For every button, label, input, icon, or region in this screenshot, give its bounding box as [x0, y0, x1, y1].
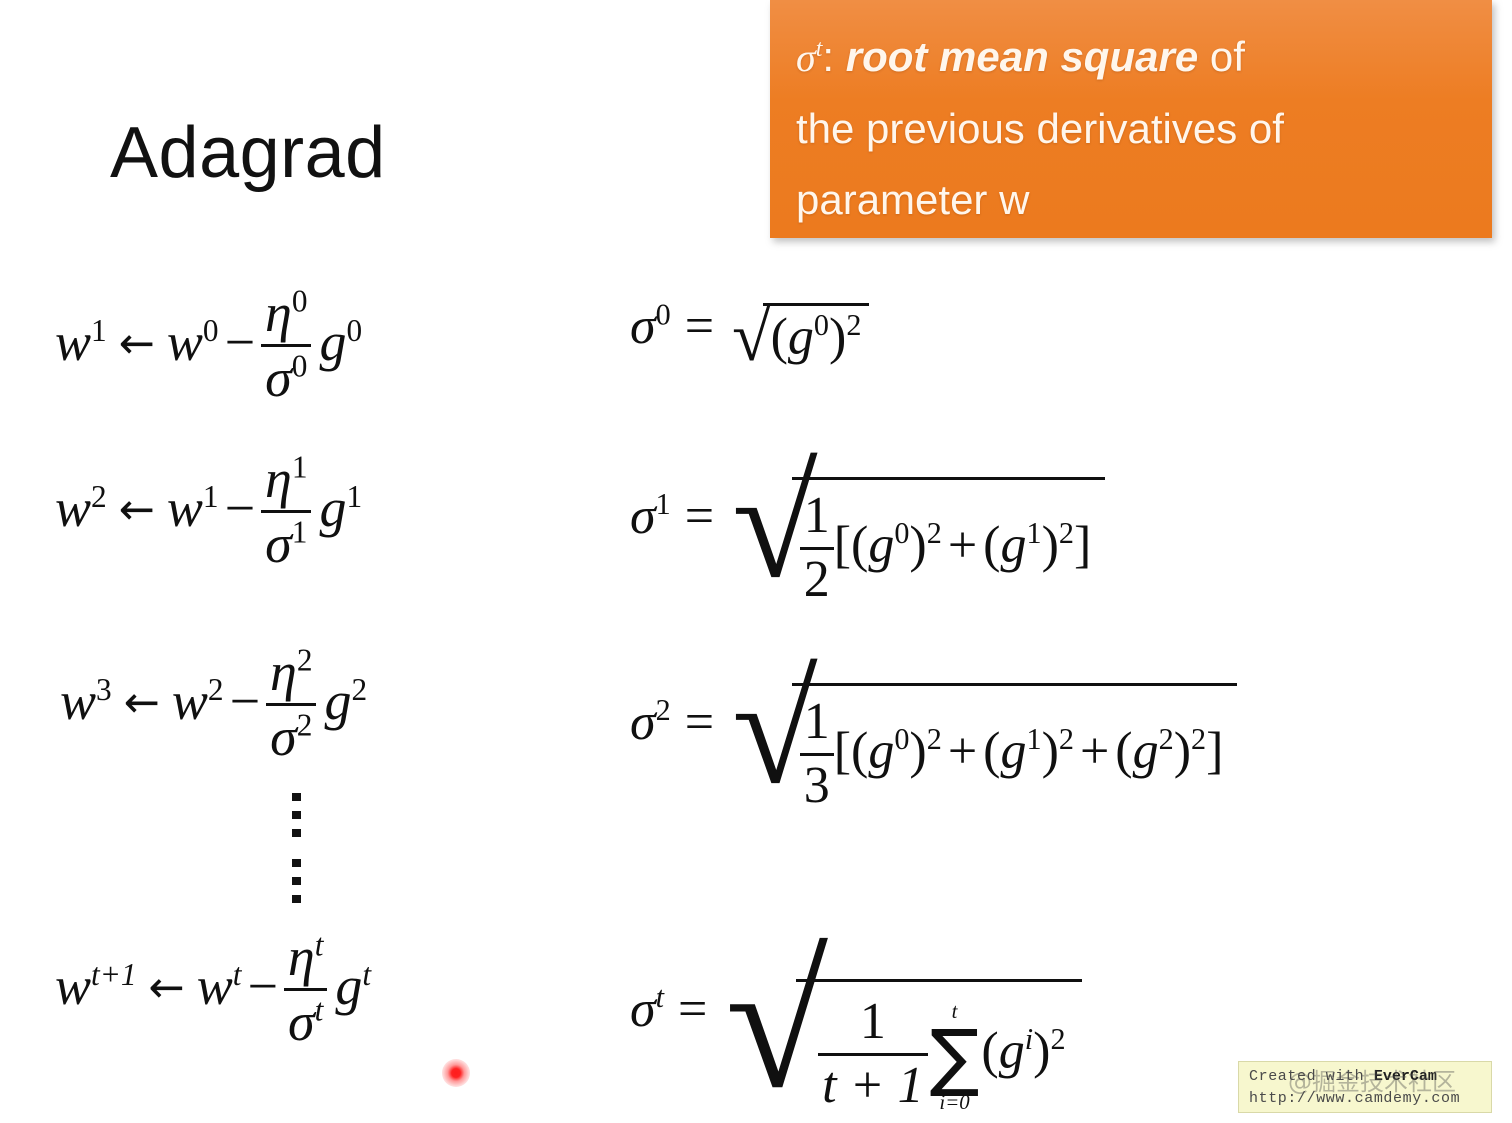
rhs-w-t: w	[197, 956, 233, 1016]
rhs-w-3-sup: 2	[208, 672, 224, 707]
summation-icon: t∑i=0	[928, 1001, 982, 1115]
plus-operator-2b: +	[1074, 723, 1115, 780]
open-paren-0: (	[771, 309, 788, 366]
frac-num-2: 1	[800, 694, 834, 750]
vertical-ellipsis-icon	[292, 793, 304, 893]
sigma-2-lhs-sup: 2	[656, 693, 671, 727]
g-0-power: 2	[846, 308, 861, 342]
frac-den-t: t + 1	[818, 1058, 928, 1114]
fraction-bar-t	[284, 988, 328, 991]
assign-arrow-icon: ←	[107, 485, 167, 535]
fraction-bar-2	[261, 510, 311, 513]
fraction-bar	[800, 547, 834, 550]
eta-t-sup: t	[315, 928, 324, 963]
eta-over-sigma-frac-1: η0σ0	[261, 284, 311, 408]
eta-3-sup: 2	[297, 643, 313, 678]
equals-sign-t: =	[664, 981, 721, 1038]
sigma-symbol: σ	[796, 35, 816, 80]
frac-num-1: 1	[800, 488, 834, 544]
fraction-bar-1	[261, 344, 311, 347]
g-t-power: 2	[1050, 1022, 1065, 1056]
sigma-definition-row-t: σt=√1t + 1t∑i=0(gi)2	[630, 912, 1082, 1116]
rhs-w-1: w	[167, 312, 203, 372]
callout-line-1: σt: root mean square of	[796, 14, 1466, 93]
close-bracket-2: ]	[1206, 723, 1223, 780]
frac-numerator-2: η1	[261, 450, 311, 508]
sigma-3-sup: 2	[297, 708, 313, 743]
slide-canvas: Adagrad σt: root mean square of the prev…	[0, 0, 1512, 1123]
eta-over-sigma-frac-3: η2σ2	[266, 643, 316, 767]
eta-1: η	[265, 283, 292, 343]
close-paren-2b: )	[1042, 723, 1059, 780]
badge-url: http://www.camdemy.com	[1249, 1088, 1483, 1110]
close-paren-2c: )	[1174, 723, 1191, 780]
sigma-t-lhs-sup: t	[656, 980, 664, 1014]
frac-denominator-t: σt	[284, 993, 328, 1051]
laser-pointer-dot	[442, 1059, 470, 1087]
g-t: g	[999, 1023, 1025, 1080]
gradient-g-t-sup: t	[362, 957, 371, 992]
eta-t: η	[288, 927, 315, 987]
g-1b-power: 2	[1059, 516, 1074, 550]
g-t-sup: i	[1025, 1022, 1033, 1056]
open-paren-1a: (	[851, 517, 868, 574]
g-2b: g	[1000, 723, 1026, 780]
gradient-g-1: g	[311, 312, 346, 372]
square-root-icon-1: √12[(g0)2+(g1)2]	[728, 432, 1105, 610]
lhs-w-t: w	[55, 956, 91, 1016]
gradient-g-t: g	[327, 956, 362, 1016]
eta-over-sigma-frac-t: ηtσt	[284, 928, 328, 1052]
badge-created-with: Created with	[1249, 1068, 1374, 1085]
open-paren-2a: (	[851, 723, 868, 780]
radical-sign-glyph: √	[725, 930, 828, 1117]
frac-numerator-t: ηt	[284, 928, 328, 986]
eta-3: η	[270, 642, 297, 702]
fraction-bar	[818, 1053, 928, 1056]
badge-brand-name: EverCam	[1374, 1068, 1437, 1085]
sigma-1-lhs-sup: 1	[656, 487, 671, 521]
fraction-bar	[800, 753, 834, 756]
minus-operator-2: −	[219, 478, 261, 538]
frac-denominator-3: σ2	[266, 708, 316, 766]
ellipsis-dot	[292, 793, 301, 801]
rhs-w-3: w	[172, 671, 208, 731]
eta-over-sigma-frac-2: η1σ1	[261, 450, 311, 574]
callout-line1-tail: of	[1198, 33, 1245, 80]
gradient-g-3-sup: 2	[351, 672, 367, 707]
sigma-1-lhs: σ	[630, 488, 656, 545]
eta-1-sup: 0	[292, 284, 308, 319]
lhs-w-2-sup: 2	[91, 479, 107, 514]
g-1a-sup: 0	[894, 516, 909, 550]
g-0-sup: 0	[814, 308, 829, 342]
open-bracket-2: [	[834, 723, 851, 780]
sigma-definition-row-1: σ1=√12[(g0)2+(g1)2]	[630, 432, 1105, 610]
g-2b-power: 2	[1059, 722, 1074, 756]
equals-sign-1: =	[671, 488, 728, 545]
gradient-g-2-sup: 1	[346, 479, 362, 514]
lhs-w-1-sup: 1	[91, 313, 107, 348]
sigma-2-sup: 1	[292, 515, 308, 550]
open-paren-1b: (	[983, 517, 1000, 574]
radical-sign-glyph: √	[732, 302, 771, 372]
open-paren-2b: (	[983, 723, 1000, 780]
sigma-t-lhs: σ	[630, 981, 656, 1038]
g-1b-sup: 1	[1026, 516, 1041, 550]
callout-line-3: parameter w	[796, 164, 1466, 235]
eta-2: η	[265, 449, 292, 509]
sigma-1: σ	[265, 348, 292, 408]
sigma-2: σ	[265, 514, 292, 574]
equals-sign-0: =	[671, 298, 728, 355]
square-root-icon-0: √(g0)2	[728, 296, 869, 366]
lhs-w-t-sup: t+1	[91, 957, 137, 992]
close-bracket-1: ]	[1074, 517, 1091, 574]
close-paren-t: )	[1033, 1023, 1050, 1080]
g-2a: g	[868, 723, 894, 780]
lhs-w-3: w	[60, 671, 96, 731]
close-paren-0: )	[829, 309, 846, 366]
update-rule-row-t: wt+1←wt−ηtσtgt	[55, 930, 371, 1054]
ellipsis-dot	[292, 877, 301, 885]
g-2b-sup: 1	[1026, 722, 1041, 756]
callout-emphasis: root mean square	[846, 33, 1198, 80]
ellipsis-dot	[292, 895, 301, 903]
ellipsis-dot	[292, 811, 301, 819]
sigma-0-sup: 0	[656, 297, 671, 331]
g-1a-power: 2	[927, 516, 942, 550]
frac-denominator-2: σ1	[261, 515, 311, 573]
update-rule-row-1: w1←w0−η0σ0g0	[55, 286, 362, 410]
gradient-g-1-sup: 0	[346, 313, 362, 348]
gradient-g-2: g	[311, 478, 346, 538]
g-2c-sup: 2	[1159, 722, 1174, 756]
equals-sign-2: =	[671, 694, 728, 751]
radicand-t: 1t + 1t∑i=0(gi)2	[796, 979, 1081, 1115]
lhs-w-2: w	[55, 478, 91, 538]
minus-operator-3: −	[224, 671, 266, 731]
square-root-icon-t: √1t + 1t∑i=0(gi)2	[721, 912, 1081, 1116]
lhs-w-3-sup: 3	[96, 672, 112, 707]
sigma-1-sup: 0	[292, 349, 308, 384]
one-half-fraction: 12	[800, 488, 834, 607]
g-2c-power: 2	[1191, 722, 1206, 756]
sigma-0: σ	[630, 298, 656, 355]
assign-arrow-icon: ←	[107, 319, 167, 369]
one-third-fraction: 13	[800, 694, 834, 813]
frac-num-t: 1	[818, 994, 928, 1050]
sigma-definition-row-0: σ0=√(g0)2	[630, 296, 869, 366]
callout-box: σt: root mean square of the previous der…	[770, 0, 1492, 238]
open-paren-2c: (	[1115, 723, 1132, 780]
g-0: g	[788, 309, 814, 366]
g-2c: g	[1133, 723, 1159, 780]
radicand-1: 12[(g0)2+(g1)2]	[792, 477, 1106, 609]
minus-operator-1: −	[219, 312, 261, 372]
lhs-w-1: w	[55, 312, 91, 372]
eta-2-sup: 1	[292, 450, 308, 485]
open-bracket-1: [	[834, 517, 851, 574]
sigma-t-sup: t	[315, 993, 324, 1028]
assign-arrow-icon: ←	[112, 678, 172, 728]
gradient-g-3: g	[316, 671, 351, 731]
fraction-bar-3	[266, 703, 316, 706]
page-title: Adagrad	[110, 112, 386, 194]
frac-numerator-1: η0	[261, 284, 311, 342]
assign-arrow-icon: ←	[137, 963, 197, 1013]
callout-colon: :	[822, 33, 834, 80]
sigma-t: σ	[288, 992, 315, 1052]
update-rule-row-3: w3←w2−η2σ2g2	[60, 645, 367, 769]
sum-glyph: ∑	[930, 1024, 980, 1092]
g-2a-power: 2	[927, 722, 942, 756]
rhs-w-2: w	[167, 478, 203, 538]
square-root-icon-2: √13[(g0)2+(g1)2+(g2)2]	[728, 638, 1237, 816]
sigma-definition-row-2: σ2=√13[(g0)2+(g1)2+(g2)2]	[630, 638, 1237, 816]
badge-line-1: Created with EverCam	[1249, 1066, 1483, 1088]
sigma-2-lhs: σ	[630, 694, 656, 751]
callout-line-2: the previous derivatives of	[796, 93, 1466, 164]
sigma-3: σ	[270, 707, 297, 767]
close-paren-2a: )	[909, 723, 926, 780]
rhs-w-2-sup: 1	[203, 479, 219, 514]
one-over-t-plus-1-fraction: 1t + 1	[818, 994, 928, 1113]
frac-den-1: 2	[800, 552, 834, 608]
frac-numerator-3: η2	[266, 643, 316, 701]
close-paren-1b: )	[1042, 517, 1059, 574]
frac-den-2: 3	[800, 758, 834, 814]
g-1b: g	[1000, 517, 1026, 574]
frac-denominator-1: σ0	[261, 349, 311, 407]
update-rule-row-2: w2←w1−η1σ1g1	[55, 452, 362, 576]
rhs-w-1-sup: 0	[203, 313, 219, 348]
close-paren-1a: )	[909, 517, 926, 574]
ellipsis-dot	[292, 829, 301, 837]
plus-operator-2a: +	[942, 723, 983, 780]
ellipsis-dot	[292, 859, 301, 867]
radicand-2: 13[(g0)2+(g1)2+(g2)2]	[792, 683, 1238, 815]
open-paren-t: (	[981, 1023, 998, 1080]
radicand-0: (g0)2	[763, 303, 870, 364]
plus-operator-1: +	[942, 517, 983, 574]
minus-operator-t: −	[241, 956, 283, 1016]
g-2a-sup: 0	[894, 722, 909, 756]
evercam-badge: Created with EverCam http://www.camdemy.…	[1238, 1061, 1492, 1113]
g-1a: g	[868, 517, 894, 574]
